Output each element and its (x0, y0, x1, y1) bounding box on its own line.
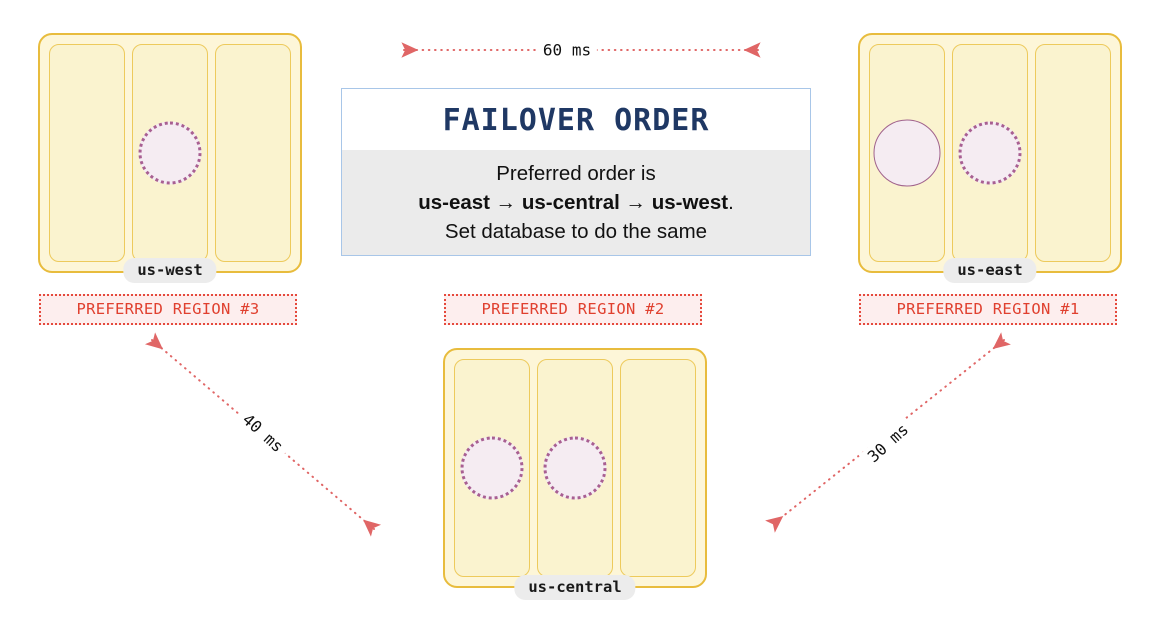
preferred-badge-us-east: PREFERRED REGION #1 (859, 294, 1117, 325)
callout-header: FAILOVER ORDER (342, 89, 810, 150)
replica-solid[interactable] (874, 120, 941, 187)
callout-line-1: Preferred order is (352, 159, 800, 188)
callout-order-sequence: us-east → us-central → us-west (418, 191, 728, 214)
callout-body: Preferred order is us-east → us-central … (342, 150, 810, 258)
diagram-canvas: 60 ms 40 ms 30 ms us-west PREFERRED REGI… (0, 0, 1157, 622)
region-us-east[interactable] (858, 33, 1122, 273)
callout-title: FAILOVER ORDER (443, 103, 710, 138)
latency-label-west-east: 60 ms (537, 40, 597, 61)
region-label-us-central: us-central (514, 575, 635, 600)
replica-dotted[interactable] (139, 122, 202, 185)
region-us-central[interactable] (443, 348, 707, 588)
callout-line-2: us-east → us-central → us-west. (352, 188, 800, 217)
region-label-us-east: us-east (943, 258, 1036, 283)
zone-us-central-1[interactable] (454, 359, 530, 577)
zone-us-east-3[interactable] (1035, 44, 1111, 262)
replica-dotted[interactable] (544, 437, 607, 500)
latency-label-east-central: 30 ms (859, 415, 918, 471)
preferred-badge-us-west: PREFERRED REGION #3 (39, 294, 297, 325)
preferred-badge-us-central: PREFERRED REGION #2 (444, 294, 702, 325)
zone-us-east-1[interactable] (869, 44, 945, 262)
zone-us-west-1[interactable] (49, 44, 125, 262)
region-us-west[interactable] (38, 33, 302, 273)
callout-line-3: Set database to do the same (352, 217, 800, 246)
failover-order-callout: FAILOVER ORDER Preferred order is us-eas… (341, 88, 811, 256)
zone-us-central-3[interactable] (620, 359, 696, 577)
zone-us-east-2[interactable] (952, 44, 1028, 262)
latency-label-west-central: 40 ms (234, 405, 293, 461)
zone-us-central-2[interactable] (537, 359, 613, 577)
region-label-us-west: us-west (123, 258, 216, 283)
replica-dotted[interactable] (461, 437, 524, 500)
replica-dotted[interactable] (959, 122, 1022, 185)
zone-us-west-3[interactable] (215, 44, 291, 262)
zone-us-west-2[interactable] (132, 44, 208, 262)
callout-order-period: . (728, 191, 734, 214)
